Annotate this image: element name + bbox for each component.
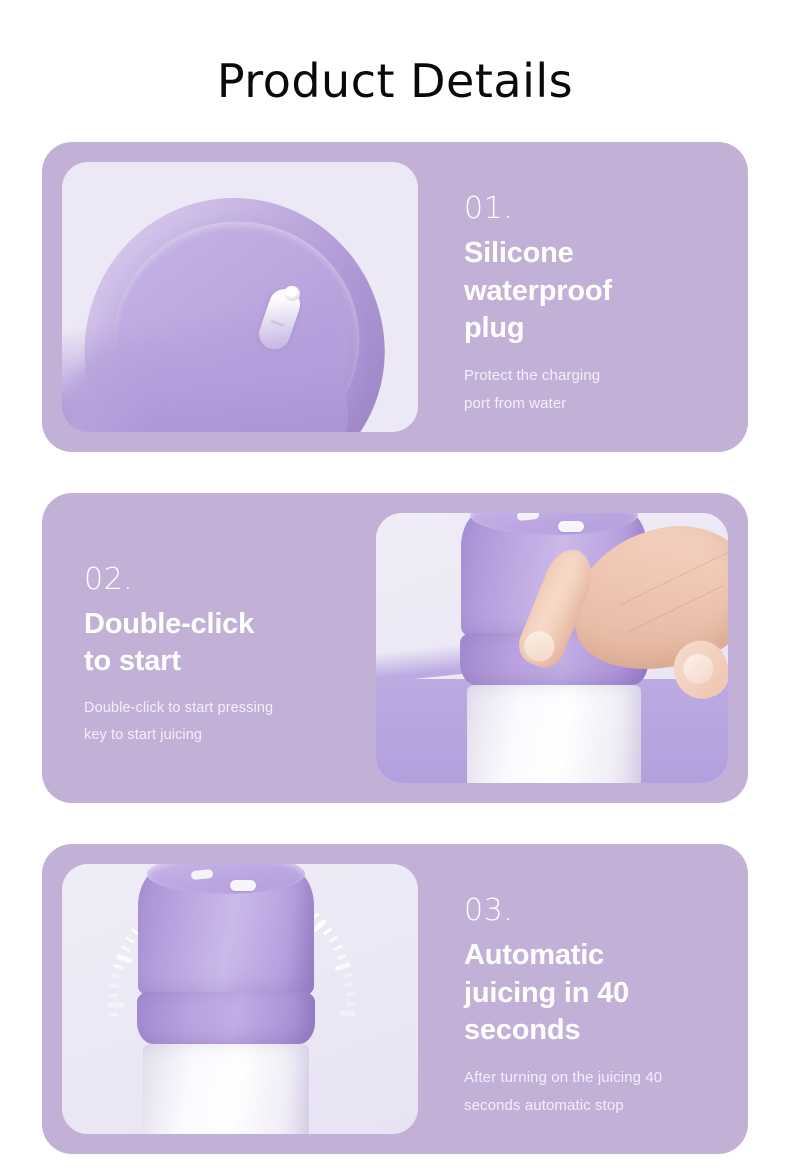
feature-image-panel-01 <box>62 162 418 432</box>
feature-text-block-03: 03. Automatic juicing in 40 seconds Afte… <box>438 844 748 1154</box>
juicer-device-icon <box>138 868 314 1134</box>
feature-card-03: 40s 03. Automatic juicing in 40 seconds … <box>42 844 748 1154</box>
knuckle-crease-line <box>626 585 724 633</box>
knuckle-crease-line <box>618 552 728 606</box>
feature-text-block-02: 02. Double-click to start Double-click t… <box>42 493 356 803</box>
feature-number-01: 01. <box>464 192 722 227</box>
feature-card-01: 01. Silicone waterproof plug Protect the… <box>42 142 748 452</box>
feature-number-02: 02. <box>84 563 338 598</box>
juicer-lid-top-view-icon <box>62 162 418 432</box>
feature-headline-02: Double-click to start <box>84 606 338 681</box>
feature-headline-03: Automatic juicing in 40 seconds <box>464 937 722 1050</box>
fingernail-shape <box>521 628 557 664</box>
juicer-collar-shape <box>137 992 315 1044</box>
feature-number-03: 03. <box>464 894 722 929</box>
feature-headline-01: Silicone waterproof plug <box>464 235 722 348</box>
juicer-cap-shape <box>138 868 314 998</box>
feature-description-02: Double-click to start pressing key to st… <box>84 695 338 749</box>
feature-description-03: After turning on the juicing 40 seconds … <box>464 1064 722 1120</box>
juicer-cap-top-shape <box>147 864 305 894</box>
hand-pressing-button-scene <box>376 513 728 783</box>
feature-description-01: Protect the charging port from water <box>464 362 722 418</box>
product-details-card-list: 01. Silicone waterproof plug Protect the… <box>0 142 790 1154</box>
juicer-body-shape <box>143 1044 308 1134</box>
feature-card-02: 02. Double-click to start Double-click t… <box>42 493 748 803</box>
hand-icon <box>524 519 728 709</box>
thumbnail-shape <box>679 650 717 688</box>
feature-image-panel-02 <box>376 513 728 783</box>
timer-juicer-scene: 40s <box>62 864 418 1134</box>
page-title: Product Details <box>0 0 790 104</box>
feature-text-block-01: 01. Silicone waterproof plug Protect the… <box>438 142 748 452</box>
feature-image-panel-03: 40s <box>62 864 418 1134</box>
power-button-icon <box>230 880 256 891</box>
